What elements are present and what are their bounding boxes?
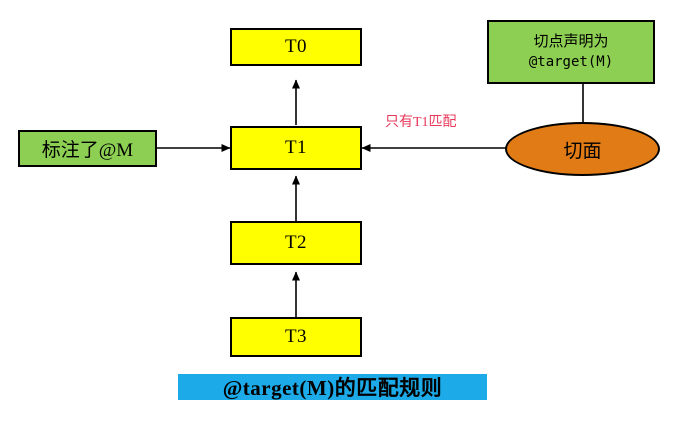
class-node-t1[interactable]: T1 [230,126,362,170]
match-label: 只有T1匹配 [385,111,457,131]
class-node-t1-label: T1 [285,137,307,159]
diagram-canvas: T0 T1 T2 T3 标注了@M 切点声明为 @target(M) 切面 只有… [0,0,685,427]
annotation-note-left[interactable]: 标注了@M [18,130,157,167]
title-banner-label: @target(M)的匹配规则 [223,372,442,402]
class-node-t0-label: T0 [285,36,307,58]
class-node-t2[interactable]: T2 [230,221,362,265]
class-node-t3-label: T3 [285,326,307,348]
pointcut-note-line1: 切点声明为 [533,32,608,52]
title-banner: @target(M)的匹配规则 [178,374,487,400]
class-node-t3[interactable]: T3 [230,317,362,357]
annotation-note-left-label: 标注了@M [42,135,133,162]
pointcut-note[interactable]: 切点声明为 @target(M) [487,20,655,84]
pointcut-note-line2: @target(M) [529,53,613,72]
aspect-ellipse[interactable]: 切面 [505,122,660,176]
aspect-ellipse-label: 切面 [563,136,601,163]
class-node-t0[interactable]: T0 [230,28,362,66]
class-node-t2-label: T2 [285,232,307,254]
